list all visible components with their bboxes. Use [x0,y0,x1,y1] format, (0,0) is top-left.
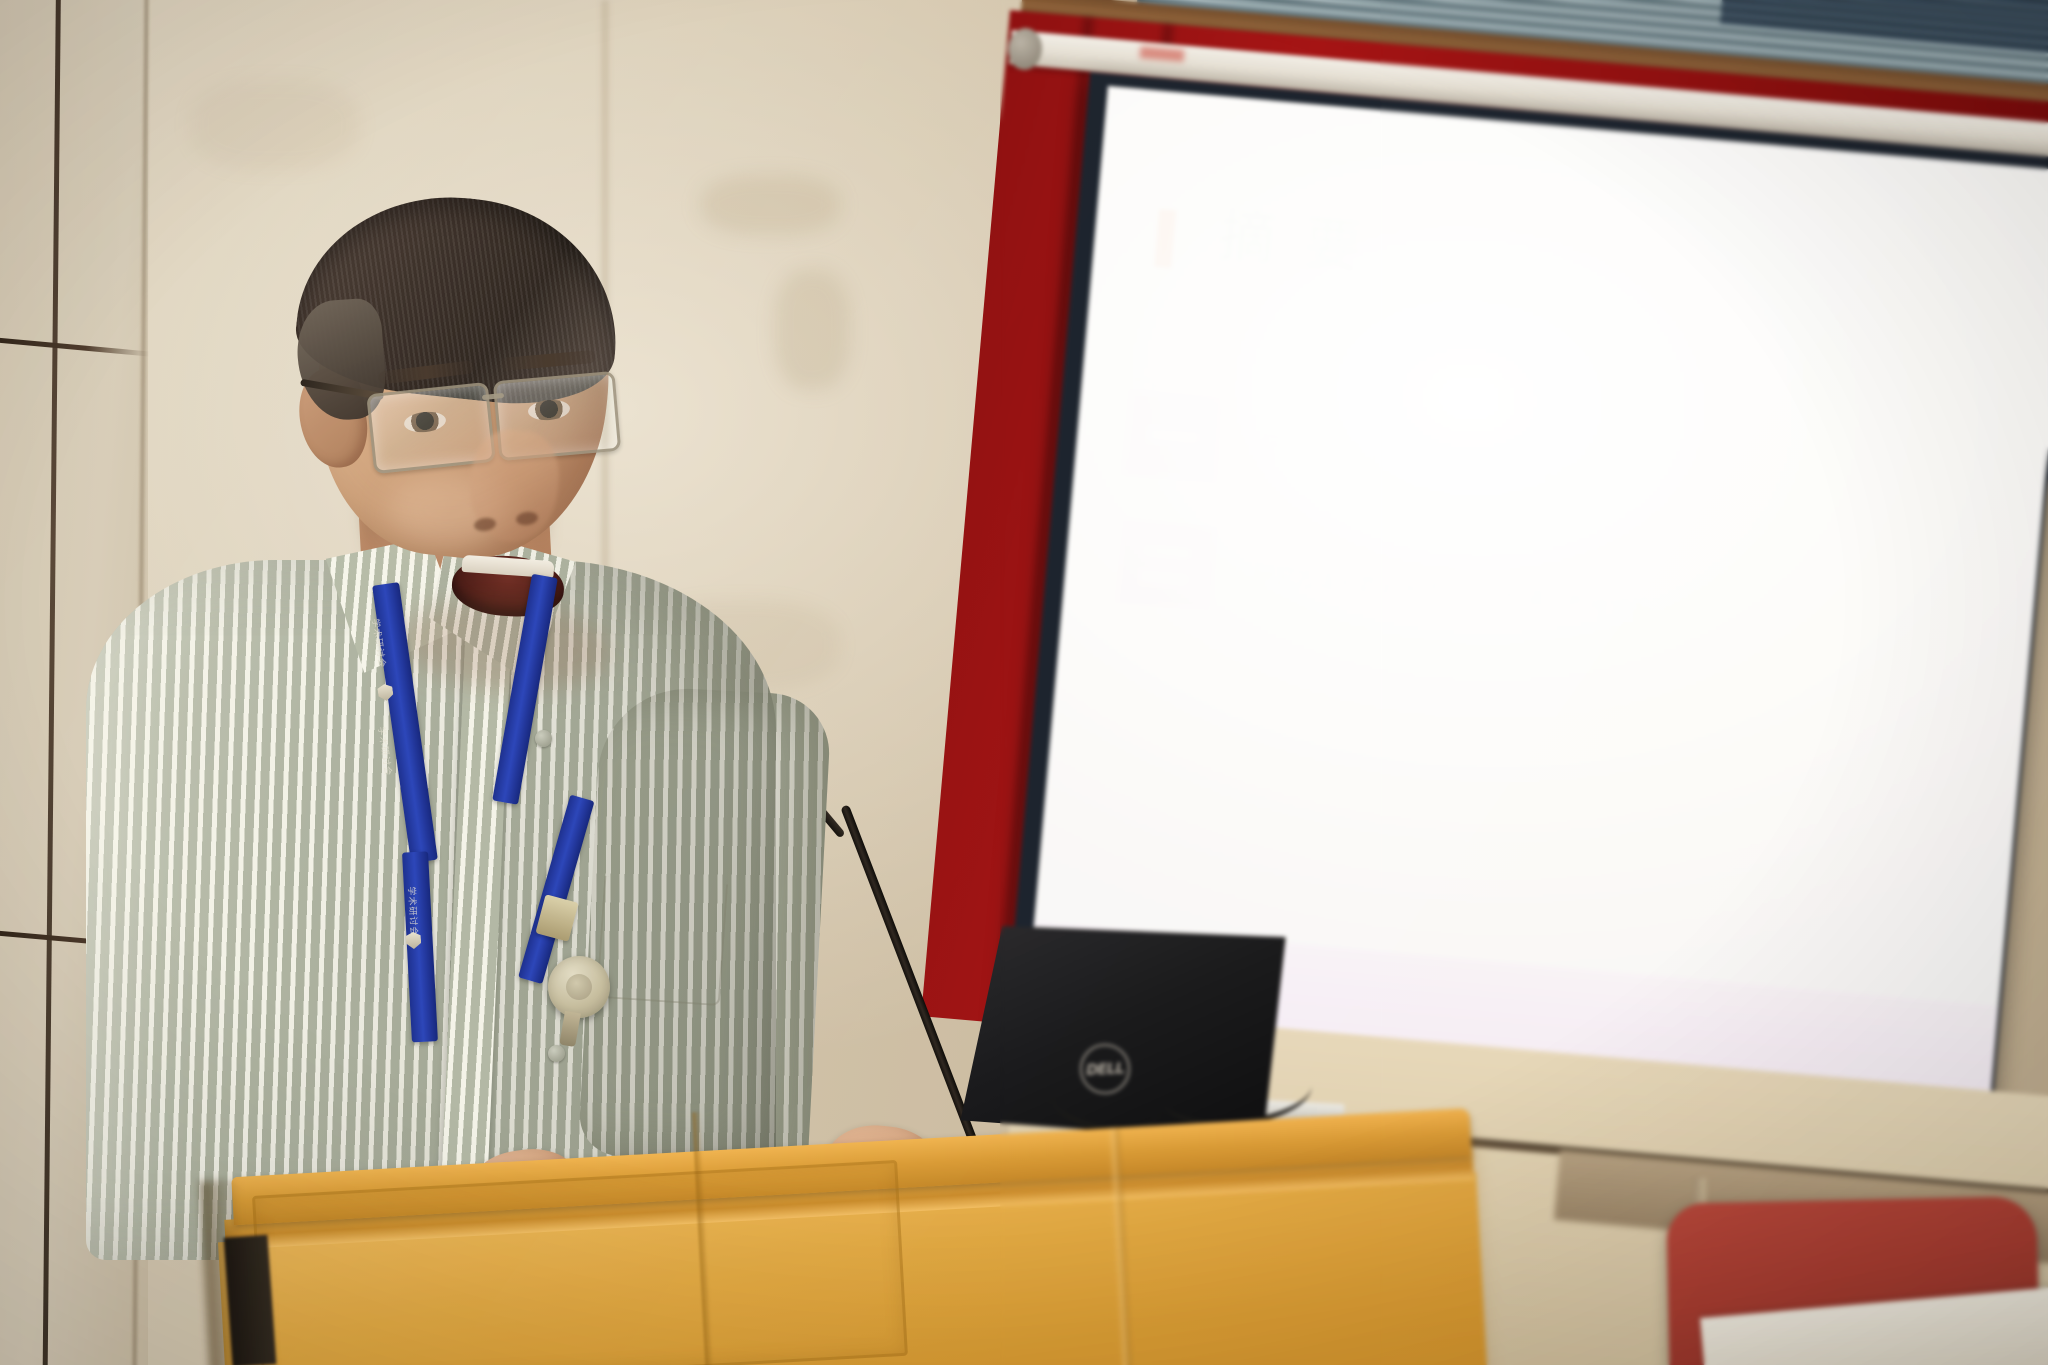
badge-reel-hub [566,974,592,1000]
microphone-base [224,1235,277,1365]
shirt-button [535,730,552,747]
lanyard-text: 学术研讨会 [406,886,422,937]
shirt-button [548,1045,565,1062]
shirt-pocket [596,876,728,1006]
podium-recessed-panel [252,1160,908,1365]
photograph-scene: 摘 要 一、 研究背景与问题的提出 相关理论综述 二、 研究方法与数据来源 实证… [0,0,2048,1365]
